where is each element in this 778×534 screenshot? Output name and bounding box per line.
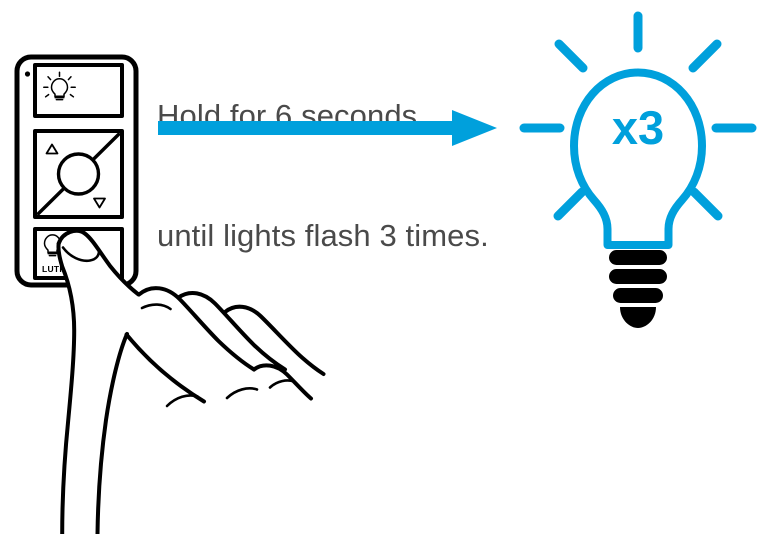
lights-on-bulb-icon [44,72,75,99]
bulb-glass-outline [574,73,702,246]
arrow-shaft [158,121,458,135]
base-tip [620,307,656,328]
ray-top-right-icon [693,44,717,68]
remote-button-on[interactable] [35,65,122,116]
base-ring-1 [609,250,667,265]
base-ring-3 [613,288,663,303]
arrow-head-icon [452,110,497,146]
base-ring-2 [609,269,667,284]
raise-lower-center-circle[interactable] [59,154,99,194]
hand-pressing-button [58,231,323,534]
triangle-down-icon [94,199,105,208]
instruction-diagram: Hold for 6 seconds until lights flash 3 … [0,0,778,534]
bulb-screw-base [609,250,667,328]
flash-count-label: x3 [612,101,664,154]
remote-button-raise-lower[interactable] [35,131,122,217]
ray-top-left-icon [559,44,583,68]
direction-arrow [158,110,497,146]
triangle-up-icon [47,145,58,154]
middle-finger-tip-crease [167,395,198,406]
light-bulb-graphic: x3 [524,16,752,328]
status-led-icon [25,71,30,76]
on-button-face[interactable] [35,65,122,116]
ray-bottom-left-icon [558,192,582,216]
ray-bottom-right-icon [694,192,718,216]
